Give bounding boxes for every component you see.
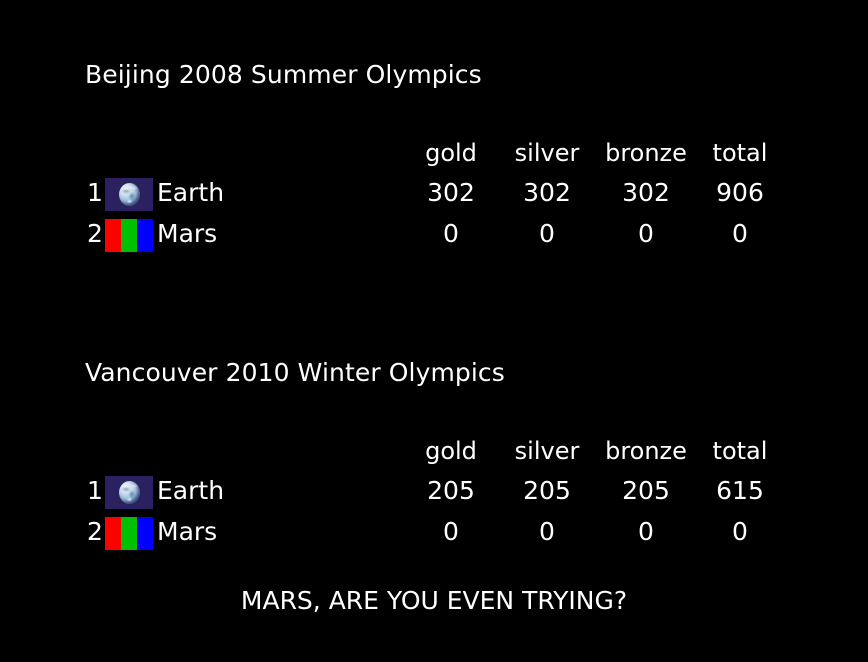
medal-count-board: Beijing 2008 Summer Olympics gold silver… [0, 0, 868, 662]
header-name [157, 134, 267, 172]
silver-value: 0 [497, 511, 597, 552]
earth-flag-icon [105, 178, 153, 211]
header-bronze: bronze [597, 432, 695, 470]
earth-globe-icon [119, 183, 140, 206]
team-name: Earth [157, 470, 267, 511]
table-row: 2 Mars 0 0 0 0 [85, 213, 785, 254]
team-name: Mars [157, 213, 267, 254]
bronze-value: 302 [597, 172, 695, 213]
header-name [157, 432, 267, 470]
total-value: 615 [695, 470, 785, 511]
team-name: Earth [157, 172, 267, 213]
bronze-value: 0 [597, 213, 695, 254]
rank-value: 1 [85, 470, 105, 511]
mars-flag-red-stripe [105, 517, 121, 550]
gold-value: 302 [405, 172, 497, 213]
silver-value: 205 [497, 470, 597, 511]
caption-text: MARS, ARE YOU EVEN TRYING? [0, 586, 868, 615]
header-bronze: bronze [597, 134, 695, 172]
header-total: total [695, 432, 785, 470]
flag-cell [105, 511, 157, 552]
flag-cell [105, 470, 157, 511]
header-total: total [695, 134, 785, 172]
mars-flag-blue-stripe [137, 517, 153, 550]
medal-table: gold silver bronze total 1 Earth 3 [85, 134, 785, 254]
rank-value: 2 [85, 213, 105, 254]
bronze-value: 205 [597, 470, 695, 511]
header-rank [85, 134, 105, 172]
table-row: 1 Earth 205 205 205 615 [85, 470, 785, 511]
table-header-row: gold silver bronze total [85, 432, 785, 470]
silver-value: 302 [497, 172, 597, 213]
medal-table: gold silver bronze total 1 Earth 2 [85, 432, 785, 552]
earth-flag-icon [105, 476, 153, 509]
total-value: 906 [695, 172, 785, 213]
table-header-row: gold silver bronze total [85, 134, 785, 172]
mars-flag-icon [105, 517, 153, 550]
gold-value: 0 [405, 213, 497, 254]
spacer-cell [267, 172, 405, 213]
rank-value: 2 [85, 511, 105, 552]
mars-flag-green-stripe [121, 219, 137, 252]
flag-cell [105, 213, 157, 254]
total-value: 0 [695, 511, 785, 552]
total-value: 0 [695, 213, 785, 254]
gold-value: 205 [405, 470, 497, 511]
header-spacer [267, 134, 405, 172]
header-rank [85, 432, 105, 470]
spacer-cell [267, 213, 405, 254]
gold-value: 0 [405, 511, 497, 552]
section-title-beijing: Beijing 2008 Summer Olympics [85, 60, 482, 89]
header-silver: silver [497, 134, 597, 172]
header-flag [105, 134, 157, 172]
earth-globe-icon [119, 481, 140, 504]
mars-flag-blue-stripe [137, 219, 153, 252]
section-title-vancouver: Vancouver 2010 Winter Olympics [85, 358, 505, 387]
medal-table-beijing: gold silver bronze total 1 Earth 3 [85, 134, 785, 254]
mars-flag-green-stripe [121, 517, 137, 550]
spacer-cell [267, 511, 405, 552]
medal-table-vancouver: gold silver bronze total 1 Earth 2 [85, 432, 785, 552]
header-gold: gold [405, 134, 497, 172]
rank-value: 1 [85, 172, 105, 213]
flag-cell [105, 172, 157, 213]
team-name: Mars [157, 511, 267, 552]
silver-value: 0 [497, 213, 597, 254]
bronze-value: 0 [597, 511, 695, 552]
mars-flag-red-stripe [105, 219, 121, 252]
spacer-cell [267, 470, 405, 511]
header-silver: silver [497, 432, 597, 470]
table-row: 1 Earth 302 302 302 906 [85, 172, 785, 213]
header-flag [105, 432, 157, 470]
mars-flag-icon [105, 219, 153, 252]
header-gold: gold [405, 432, 497, 470]
table-row: 2 Mars 0 0 0 0 [85, 511, 785, 552]
header-spacer [267, 432, 405, 470]
